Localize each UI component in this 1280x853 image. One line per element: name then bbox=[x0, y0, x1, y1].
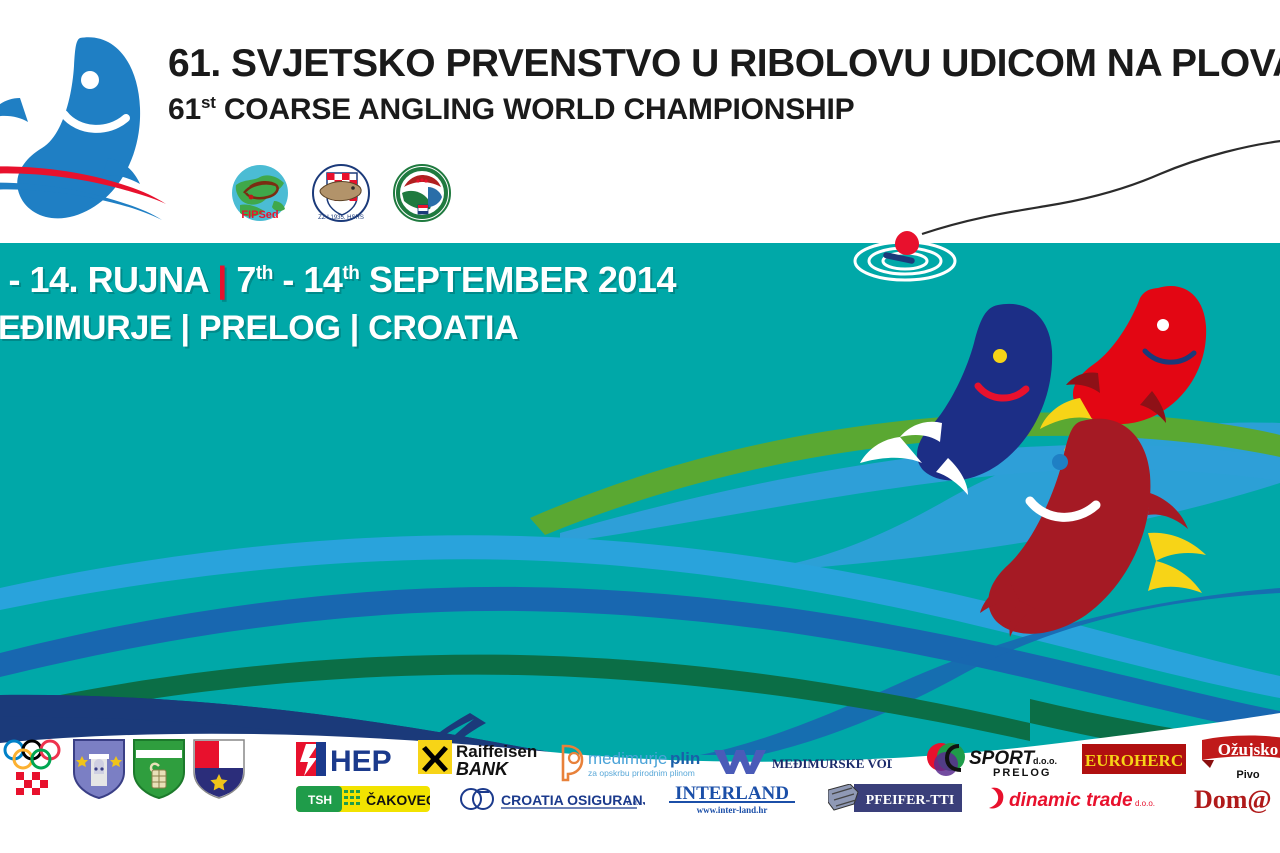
page-subtitle: 61st COARSE ANGLING WORLD CHAMPIONSHIP bbox=[168, 94, 1280, 125]
dinamic-trade-logo[interactable]: dinamic trade d.o.o. bbox=[985, 784, 1155, 817]
croatia-osiguranje-logo[interactable]: CROATIA OSIGURANJE d.d. bbox=[455, 786, 645, 817]
dates-ord2: th bbox=[342, 263, 359, 284]
medimurske-vode-label: MEĐIMURSKE VODE d.o.o. bbox=[772, 756, 892, 771]
hsrs-label: ZZ I 1935. HSRS bbox=[318, 215, 364, 221]
domaci-logo[interactable]: Dom@ bbox=[1192, 780, 1280, 821]
municipality-crest[interactable] bbox=[192, 738, 246, 800]
tsh-cakovec-logo[interactable]: TSH ČAKOVEC bbox=[296, 786, 430, 817]
subtitle-number: 61 bbox=[168, 93, 201, 126]
dates-english: SEPTEMBER 2014 bbox=[369, 259, 676, 300]
croatia-osiguranje-suffix: d.d. bbox=[627, 800, 639, 807]
hep-label: HEP bbox=[330, 745, 392, 778]
medimurjeplin-tagline: za opskrbu prirodnim plinom bbox=[588, 768, 695, 778]
medimurjeplin-label-2: plin bbox=[670, 749, 700, 768]
logo-fish-fin-top bbox=[0, 98, 28, 122]
fipsed-label: FIPSed bbox=[241, 209, 278, 221]
raiffeisen-bank-logo[interactable]: Raiffeisen BANK bbox=[418, 738, 538, 785]
sport-label: SPORT bbox=[969, 748, 1036, 769]
croatian-checkerboard bbox=[16, 772, 48, 795]
hep-logo[interactable]: HEP bbox=[296, 740, 406, 783]
dates-ord1: th bbox=[256, 263, 273, 284]
sponsor-strip: HEP Raiffeisen BANK medimurje plin za op… bbox=[0, 728, 1280, 853]
emblem-row: FIPSed ZZ I 1935. HSRS bbox=[230, 163, 453, 224]
medimurske-vode-logo[interactable]: MEĐIMURSKE VODE d.o.o. bbox=[712, 746, 892, 783]
raiffeisen-label-2: BANK bbox=[456, 759, 510, 779]
dinamic-trade-label: dinamic trade bbox=[1009, 790, 1133, 811]
croatia-osiguranje-label: CROATIA OSIGURANJE bbox=[501, 792, 645, 808]
interland-label: INTERLAND bbox=[675, 783, 789, 804]
organizer-emblem bbox=[392, 163, 453, 224]
medimurjeplin-label-1: medimurje bbox=[588, 749, 667, 768]
tsh-label: TSH bbox=[308, 793, 332, 807]
euroherc-logo[interactable]: EUROHERC bbox=[1082, 744, 1186, 779]
page-title: 61. SVJETSKO PRVENSTVO U RIBOLOVU UDICOM… bbox=[168, 44, 1280, 83]
interland-logo[interactable]: INTERLAND www.inter-land.hr bbox=[665, 782, 799, 821]
dinamic-trade-suffix: d.o.o. bbox=[1135, 799, 1155, 808]
fishing-float bbox=[845, 228, 975, 288]
sport-suffix: d.o.o. bbox=[1033, 756, 1057, 766]
subtitle-ordinal: st bbox=[201, 93, 216, 112]
interland-url: www.inter-land.hr bbox=[697, 805, 768, 815]
hsrs-emblem: ZZ I 1935. HSRS bbox=[311, 163, 372, 224]
medimurje-county-crest[interactable] bbox=[72, 738, 126, 800]
domaci-label: Dom@ bbox=[1194, 785, 1272, 814]
pfeifer-tti-label: PFEIFER-TTI bbox=[866, 793, 955, 808]
subtitle-text: COARSE ANGLING WORLD CHAMPIONSHIP bbox=[224, 93, 855, 126]
dates-day1: 7 bbox=[236, 259, 256, 300]
medimurjeplin-logo[interactable]: medimurje plin za opskrbu prirodnim plin… bbox=[558, 742, 718, 787]
header-band: 61. SVJETSKO PRVENSTVO U RIBOLOVU UDICOM… bbox=[0, 0, 1280, 243]
logo-fish-eye bbox=[81, 71, 99, 89]
cakovec-label: ČAKOVEC bbox=[366, 791, 430, 808]
euroherc-label: EUROHERC bbox=[1085, 751, 1183, 770]
line-path bbox=[922, 140, 1280, 234]
event-dates: 7. - 14. RUJNA | 7th - 14th SEPTEMBER 20… bbox=[0, 262, 676, 298]
float-body bbox=[895, 231, 919, 255]
dates-day2: - 14 bbox=[282, 259, 342, 300]
jumping-fish-logo bbox=[0, 18, 192, 223]
title-block: 61. SVJETSKO PRVENSTVO U RIBOLOVU UDICOM… bbox=[168, 44, 1280, 125]
dates-croatian: 7. - 14. RUJNA bbox=[0, 259, 208, 300]
ozujsko-label: Ožujsko bbox=[1218, 740, 1278, 759]
pfeifer-tti-logo[interactable]: PFEIFER-TTI bbox=[828, 784, 962, 817]
dates-separator: | bbox=[217, 259, 227, 300]
prelog-town-crest[interactable] bbox=[132, 738, 186, 800]
date-location-block: 7. - 14. RUJNA | 7th - 14th SEPTEMBER 20… bbox=[0, 262, 676, 345]
fipsed-emblem: FIPSed bbox=[230, 163, 291, 224]
croatian-olympic-committee-logo[interactable] bbox=[2, 736, 66, 798]
event-location: MEĐIMURJE | PRELOG | CROATIA bbox=[0, 311, 676, 345]
sport-prelog-logo[interactable]: SPORT d.o.o. PRELOG bbox=[925, 740, 1065, 785]
prelog-label: PRELOG bbox=[993, 767, 1051, 779]
poster-canvas: 61. SVJETSKO PRVENSTVO U RIBOLOVU UDICOM… bbox=[0, 0, 1280, 853]
